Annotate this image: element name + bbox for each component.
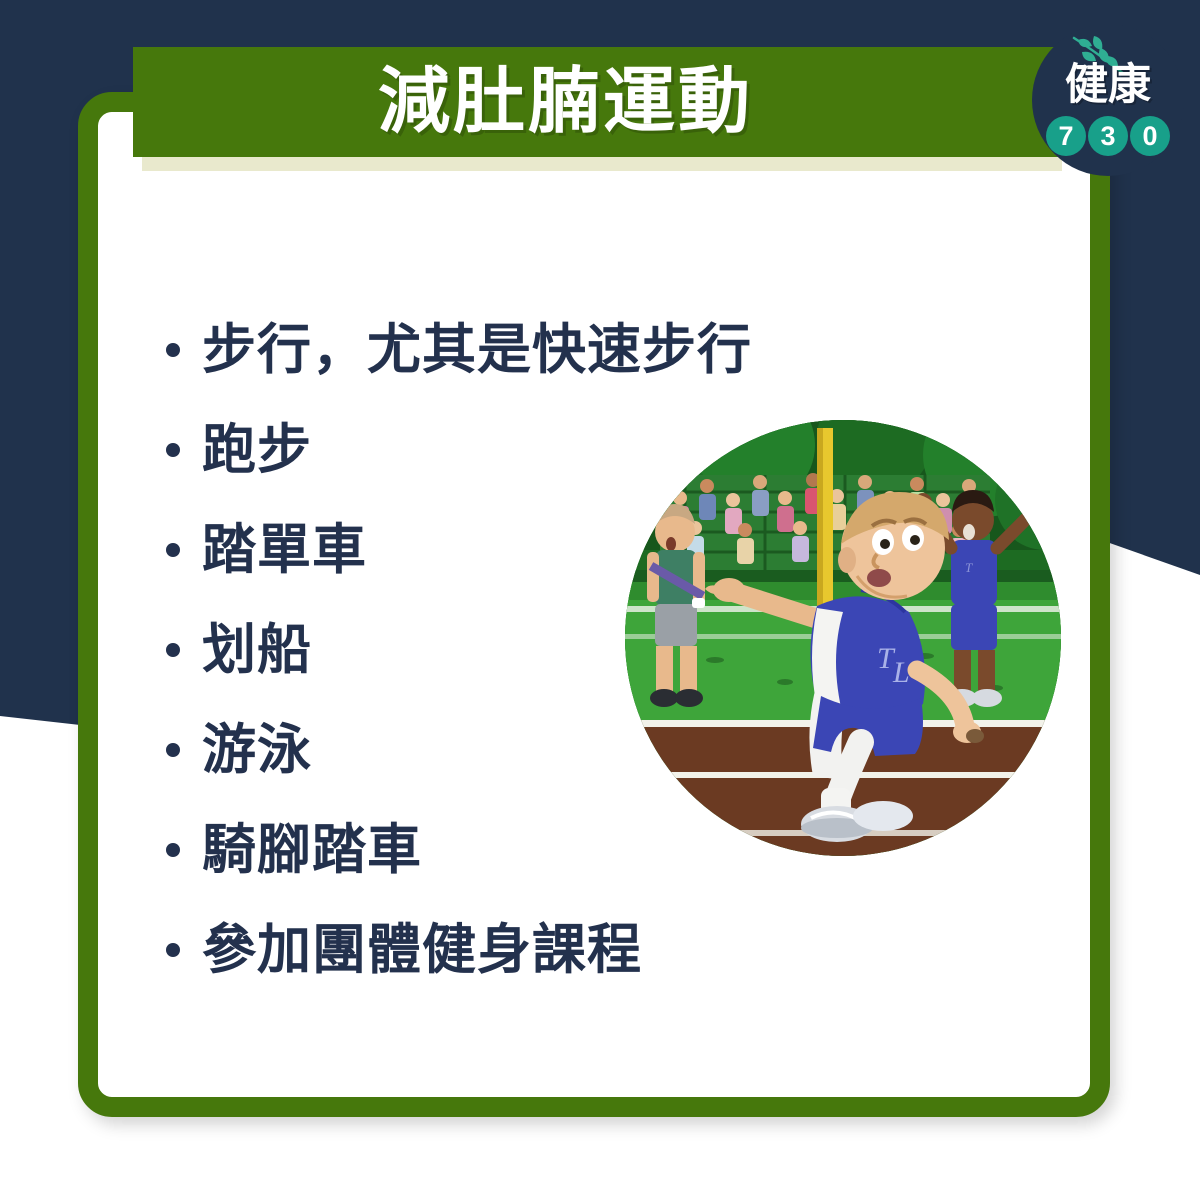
svg-text:L: L: [892, 656, 910, 689]
logo-number: 3: [1088, 116, 1128, 156]
banner-accent-strip: [142, 157, 1062, 171]
bullet-icon: [166, 543, 180, 557]
list-item-label: 跑步: [202, 422, 312, 479]
brand-logo[interactable]: 健康 7 3 0: [1032, 24, 1184, 176]
bullet-icon: [166, 943, 180, 957]
bullet-icon: [166, 643, 180, 657]
list-item-label: 參加團體健身課程: [202, 922, 642, 979]
list-item-label: 划船: [202, 622, 312, 679]
logo-number-group: 7 3 0: [1032, 116, 1184, 156]
logo-wordmark: 健康: [1032, 64, 1184, 107]
bullet-icon: [166, 343, 180, 357]
content-card: 步行，尤其是快速步行 跑步 踏單車 划船 游泳: [78, 92, 1110, 1117]
svg-text:T: T: [965, 560, 973, 575]
list-item-label: 騎腳踏車: [202, 822, 422, 879]
list-item-label: 踏單車: [202, 522, 367, 579]
page-title: 減肚腩運動: [378, 66, 753, 138]
bullet-icon: [166, 443, 180, 457]
list-item: 參加團體健身課程: [166, 900, 886, 1000]
list-item-label: 游泳: [202, 722, 312, 779]
illustration-photo: T: [625, 420, 1061, 856]
list-item-label: 步行，尤其是快速步行: [202, 322, 752, 379]
title-banner: 減肚腩運動: [133, 47, 1058, 157]
poster: 步行，尤其是快速步行 跑步 踏單車 划船 游泳: [0, 0, 1200, 1200]
athlete-illustration: T: [625, 420, 1061, 856]
bullet-icon: [166, 743, 180, 757]
logo-number: 0: [1130, 116, 1170, 156]
list-item: 步行，尤其是快速步行: [166, 300, 886, 400]
content-card-inner: 步行，尤其是快速步行 跑步 踏單車 划船 游泳: [98, 112, 1090, 1097]
bullet-icon: [166, 843, 180, 857]
logo-number: 7: [1046, 116, 1086, 156]
